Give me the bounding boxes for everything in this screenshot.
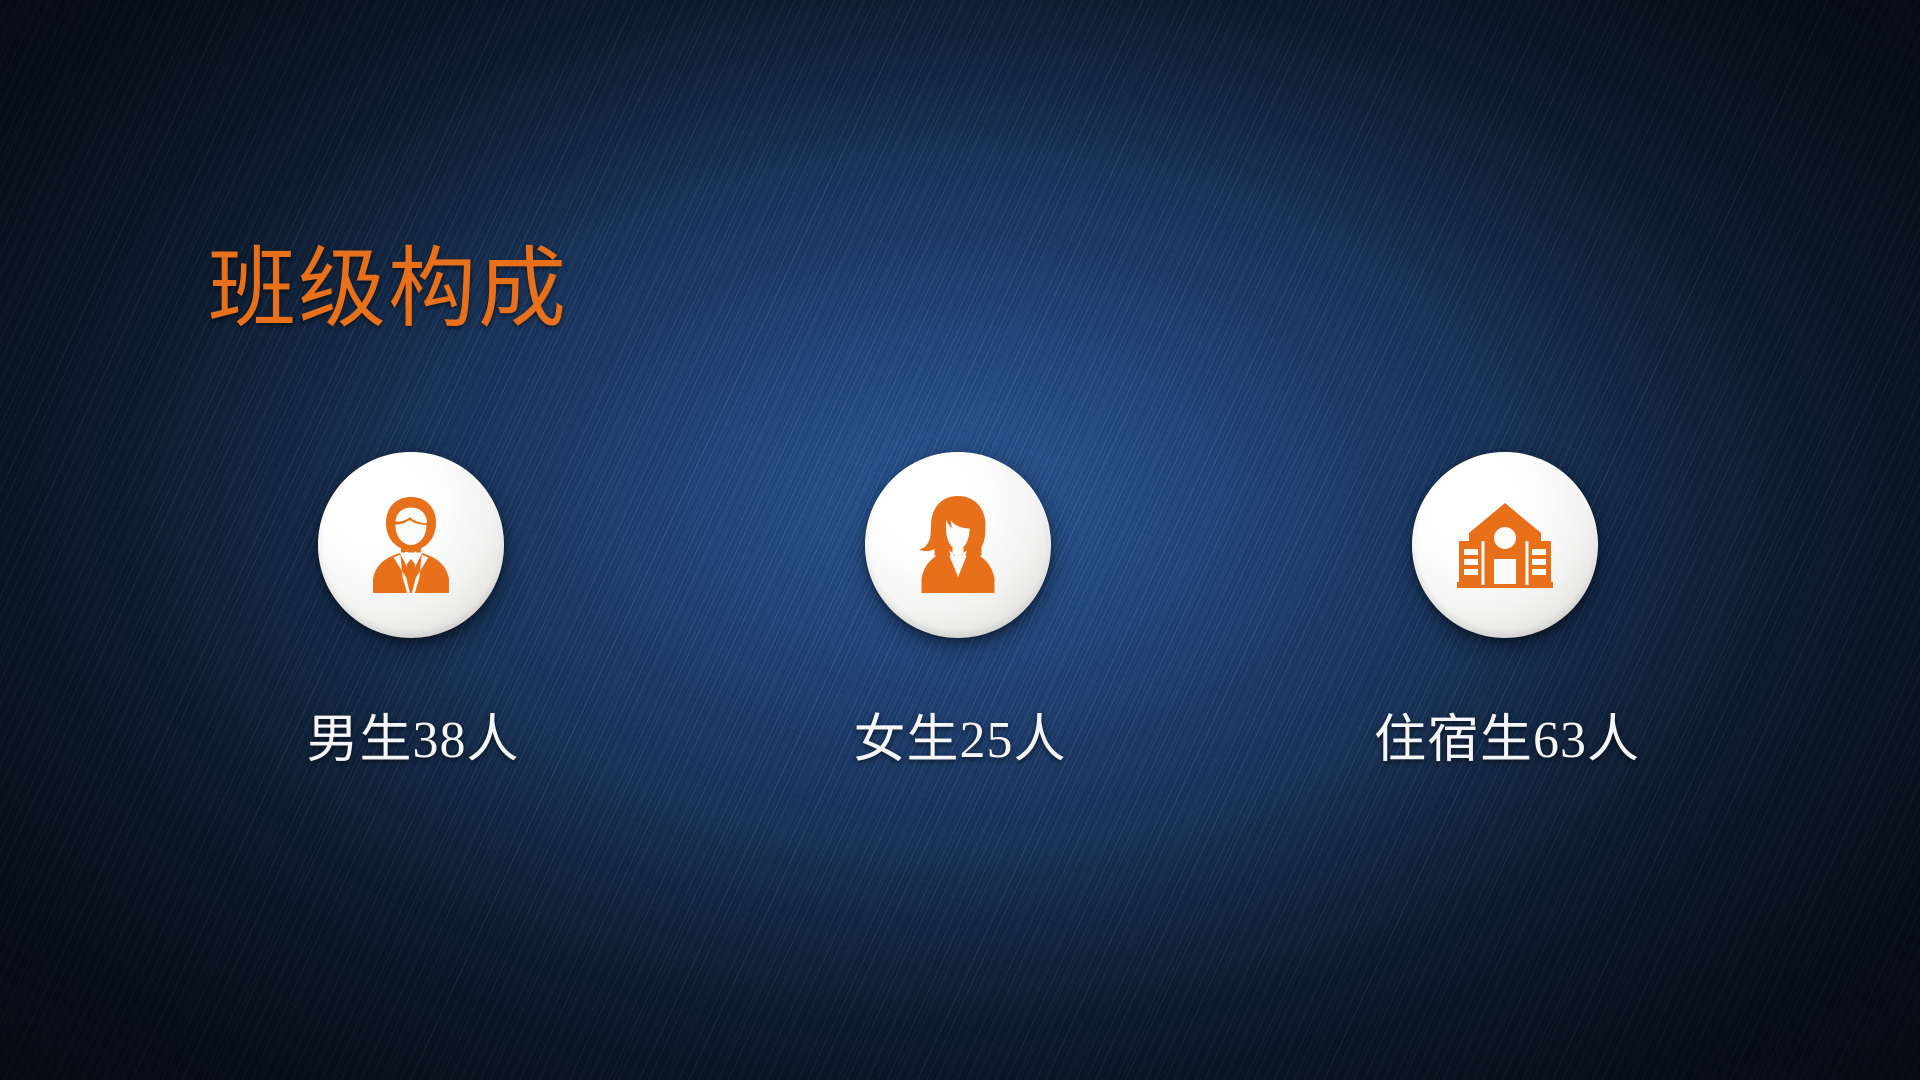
stat-item-label: 男生38人 [306,712,519,769]
icon-disc[interactable] [865,452,1051,638]
stat-item-male-students[interactable]: 男生38人 [263,452,563,769]
stat-item-label: 女生25人 [853,712,1066,769]
icon-disc[interactable] [1412,452,1598,638]
stat-item-boarding-students[interactable]: 住宿生63人 [1357,452,1657,769]
stat-item-row: 男生38人 [0,452,1920,769]
presentation-slide: 班级构成 [0,0,1920,1080]
icon-disc[interactable] [318,452,504,638]
school-building-icon [1449,489,1561,601]
businessman-icon [355,489,467,601]
icon-disc-wrapper [865,452,1055,642]
stat-item-label: 住宿生63人 [1374,712,1640,769]
stat-item-female-students[interactable]: 女生25人 [810,452,1110,769]
icon-disc-wrapper [318,452,508,642]
slide-title: 班级构成 [208,245,568,337]
businesswoman-icon [902,489,1014,601]
icon-disc-wrapper [1412,452,1602,642]
